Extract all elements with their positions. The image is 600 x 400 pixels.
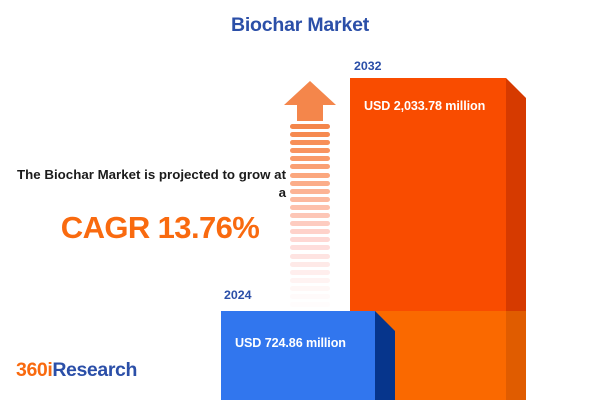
- arrow-segment: [290, 270, 330, 275]
- arrow-segment: [290, 262, 330, 267]
- arrow-segment: [290, 221, 330, 226]
- arrow-segment: [290, 173, 330, 178]
- arrow-segment: [290, 294, 330, 299]
- arrow-segment: [290, 245, 330, 250]
- arrow-segment: [290, 197, 330, 202]
- arrow-segment: [290, 132, 330, 137]
- arrow-segment-stack: [290, 124, 330, 290]
- infographic-canvas: Biochar Market The Biochar Market is pro…: [0, 0, 600, 400]
- arrow-head-icon: [283, 80, 337, 122]
- arrow-segment: [290, 286, 330, 291]
- arrow-segment: [290, 189, 330, 194]
- bar-2024-value-label: USD 724.86 million: [235, 336, 346, 350]
- arrow-segment: [290, 254, 330, 259]
- logo-suffix: Research: [52, 359, 137, 381]
- page-title: Biochar Market: [0, 14, 600, 37]
- cagr-value: CAGR 13.76%: [14, 210, 288, 246]
- bar-2032-year-label: 2032: [354, 59, 382, 73]
- arrow-segment: [290, 181, 330, 186]
- arrow-segment: [290, 140, 330, 145]
- arrow-segment: [290, 237, 330, 242]
- brand-logo: 360iResearch: [16, 359, 137, 382]
- up-arrow-icon: [283, 80, 337, 290]
- arrow-segment: [290, 229, 330, 234]
- arrow-segment: [290, 213, 330, 218]
- bar-2024-front-face: [221, 311, 375, 400]
- logo-prefix: 360i: [16, 359, 52, 381]
- arrow-segment: [290, 302, 330, 307]
- arrow-segment: [290, 148, 330, 153]
- statement-text: The Biochar Market is projected to grow …: [14, 166, 288, 203]
- bar-2024: USD 724.86 million: [221, 311, 396, 400]
- arrow-segment: [290, 124, 330, 129]
- arrow-segment: [290, 205, 330, 210]
- bar-2032-value-label: USD 2,033.78 million: [364, 99, 485, 113]
- statement-block: The Biochar Market is projected to grow …: [14, 166, 288, 246]
- bar-2024-year-label: 2024: [224, 288, 252, 302]
- arrow-segment: [290, 164, 330, 169]
- arrow-segment: [290, 156, 330, 161]
- arrow-segment: [290, 278, 330, 283]
